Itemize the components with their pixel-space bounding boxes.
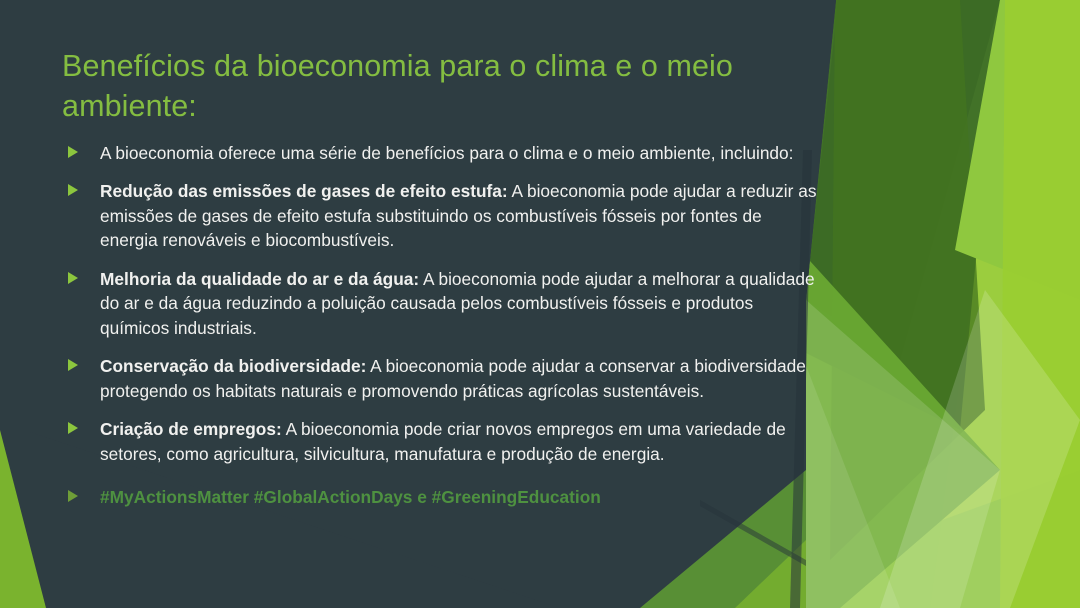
list-item: Redução das emissões de gases de efeito …: [62, 179, 822, 253]
triangle-right-icon: [68, 146, 78, 158]
triangle-right-icon: [68, 359, 78, 371]
olive-overlay: [830, 0, 985, 560]
dark-green-shape-upper: [806, 0, 1000, 360]
list-item: Conservação da biodiversidade: A bioecon…: [62, 354, 822, 403]
hashtag-text: #MyActionsMatter #GlobalActionDays e #Gr…: [100, 487, 601, 507]
top-right-light: [955, 0, 1080, 300]
triangle-right-icon: [68, 184, 78, 196]
bottom-left-green-wedge: [0, 430, 46, 608]
bullet-lead-in: Criação de empregos:: [100, 419, 282, 439]
lower-right-green-cut-2: [735, 540, 806, 608]
list-item-hashtags: #MyActionsMatter #GlobalActionDays e #Gr…: [62, 485, 822, 510]
bullet-text: A bioeconomia oferece uma série de benef…: [100, 143, 794, 163]
triangle-right-icon: [68, 422, 78, 434]
presentation-slide: Benefícios da bioeconomia para o clima e…: [0, 0, 1080, 608]
far-right-band: [1000, 0, 1080, 608]
bullet-list: A bioeconomia oferece uma série de benef…: [62, 141, 822, 510]
triangle-right-icon: [68, 490, 78, 502]
list-item: Criação de empregos: A bioeconomia pode …: [62, 417, 822, 466]
forest-green-shape: [800, 0, 1000, 430]
pale-sheet-right: [880, 290, 1080, 608]
list-item: A bioeconomia oferece uma série de benef…: [62, 141, 822, 166]
bullet-lead-in: Melhoria da qualidade do ar e da água:: [100, 269, 419, 289]
slide-content: Benefícios da bioeconomia para o clima e…: [62, 46, 822, 509]
bullet-lead-in: Conservação da biodiversidade:: [100, 356, 366, 376]
list-item: Melhoria da qualidade do ar e da água: A…: [62, 267, 822, 341]
seam-line-diagonal: [700, 500, 806, 566]
page-title: Benefícios da bioeconomia para o clima e…: [62, 46, 792, 127]
bottom-left-wedge: [0, 432, 44, 608]
triangle-right-icon: [68, 272, 78, 284]
bullet-lead-in: Redução das emissões de gases de efeito …: [100, 181, 508, 201]
